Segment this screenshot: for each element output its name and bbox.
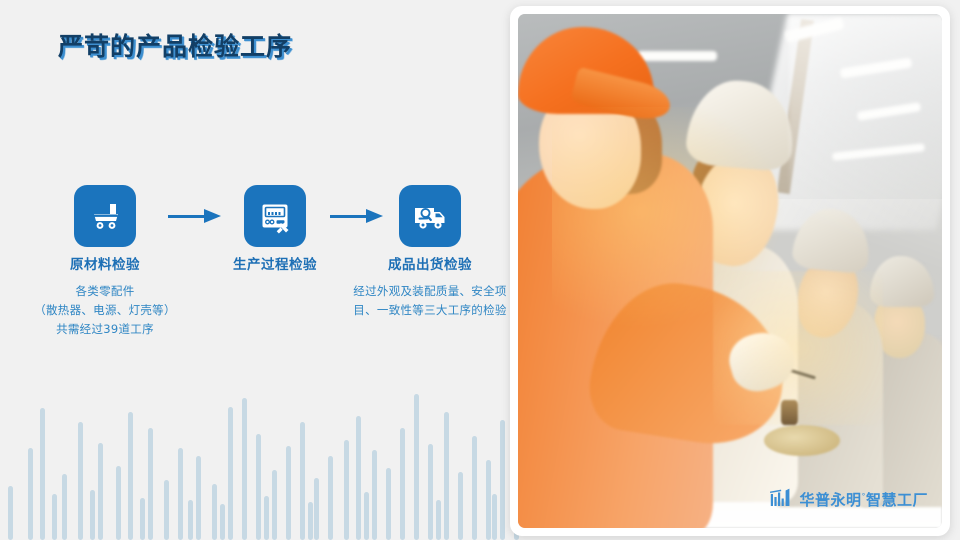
step-label: 生产过程检验 <box>185 256 365 274</box>
decorative-bar <box>386 468 391 540</box>
decorative-bar <box>8 486 13 540</box>
factory-photo-frame: 华普永明°智慧工厂 <box>510 6 950 536</box>
process-step-production[interactable]: 生产过程检验 <box>185 185 365 274</box>
page-title-text: 严苛的产品检验工序 <box>58 30 292 64</box>
decorative-bar <box>500 420 505 540</box>
decorative-bar <box>188 500 193 540</box>
decorative-bar <box>428 444 433 540</box>
decorative-bar <box>400 428 405 540</box>
decorative-bar <box>90 490 95 540</box>
step-description-line: 经过外观及装配质量、安全项目、一致性等三大工序的检验 <box>350 282 510 320</box>
decorative-bar <box>458 472 463 540</box>
decorative-bar <box>486 460 491 540</box>
decorative-bar <box>286 446 291 540</box>
decorative-bar <box>220 504 225 540</box>
decorative-bar <box>436 500 441 540</box>
decorative-bar <box>28 448 33 540</box>
decorative-bar <box>242 398 247 540</box>
decorative-bar <box>472 436 477 540</box>
photo-lamp <box>637 51 718 61</box>
decorative-bar <box>212 484 217 540</box>
decorative-bar <box>356 416 361 540</box>
decorative-bar <box>128 412 133 540</box>
decorative-bar <box>444 412 449 540</box>
decorative-bar <box>328 456 333 540</box>
page-title: 严苛的产品检验工序 <box>58 30 292 70</box>
step-description-line: 各类零配件 <box>15 282 195 301</box>
decorative-bar <box>78 422 83 540</box>
decorative-bar <box>256 434 261 540</box>
photo-fixture <box>764 425 840 456</box>
decorative-bar <box>52 494 57 540</box>
decorative-bar-chart <box>0 392 530 540</box>
inspection-process-flow: 原材料检验 各类零配件 （散热器、电源、灯壳等） 共需经过39道工序 <box>0 185 510 375</box>
process-step-finished-goods[interactable]: 成品出货检验 经过外观及装配质量、安全项目、一致性等三大工序的检验 <box>340 185 520 320</box>
step-description-line: 共需经过39道工序 <box>15 320 195 339</box>
brand-logo-icon <box>770 488 794 508</box>
decorative-bar <box>300 422 305 540</box>
slide-canvas: 严苛的产品检验工序 原材料检验 各类零配件 （散热器、电源、灯壳等） 共需经过3… <box>0 0 960 540</box>
decorative-bar <box>314 478 319 540</box>
mining-cart-icon <box>74 185 136 247</box>
decorative-bar <box>196 456 201 540</box>
decorative-bar <box>178 448 183 540</box>
decorative-bar <box>272 470 277 540</box>
brand-watermark: 华普永明°智慧工厂 <box>770 488 928 508</box>
decorative-bar <box>148 428 153 540</box>
decorative-bar <box>62 474 67 540</box>
decorative-bar <box>140 498 145 540</box>
decorative-bar <box>372 450 377 540</box>
inspection-machine-tools-icon <box>244 185 306 247</box>
brand-name: 华普永明 <box>799 491 861 509</box>
decorative-bar <box>164 480 169 540</box>
decorative-bar <box>364 492 369 540</box>
step-description: 各类零配件 （散热器、电源、灯壳等） 共需经过39道工序 <box>15 282 195 339</box>
decorative-bar <box>344 440 349 540</box>
decorative-bar <box>264 496 269 540</box>
delivery-truck-magnifier-icon <box>399 185 461 247</box>
step-label: 原材料检验 <box>15 256 195 274</box>
decorative-bar <box>492 494 497 540</box>
photo-light-glow <box>713 271 883 425</box>
decorative-bar <box>116 466 121 540</box>
decorative-bar <box>414 394 419 540</box>
brand-suffix: 智慧工厂 <box>866 491 928 509</box>
decorative-bar <box>40 408 45 540</box>
decorative-bar <box>98 443 103 540</box>
factory-photo: 华普永明°智慧工厂 <box>518 14 942 528</box>
decorative-bar <box>308 502 313 540</box>
step-description: 经过外观及装配质量、安全项目、一致性等三大工序的检验 <box>350 282 510 320</box>
step-label: 成品出货检验 <box>340 256 520 274</box>
brand-watermark-text: 华普永明°智慧工厂 <box>799 489 928 508</box>
step-description-line: （散热器、电源、灯壳等） <box>15 301 195 320</box>
decorative-bar <box>228 407 233 540</box>
